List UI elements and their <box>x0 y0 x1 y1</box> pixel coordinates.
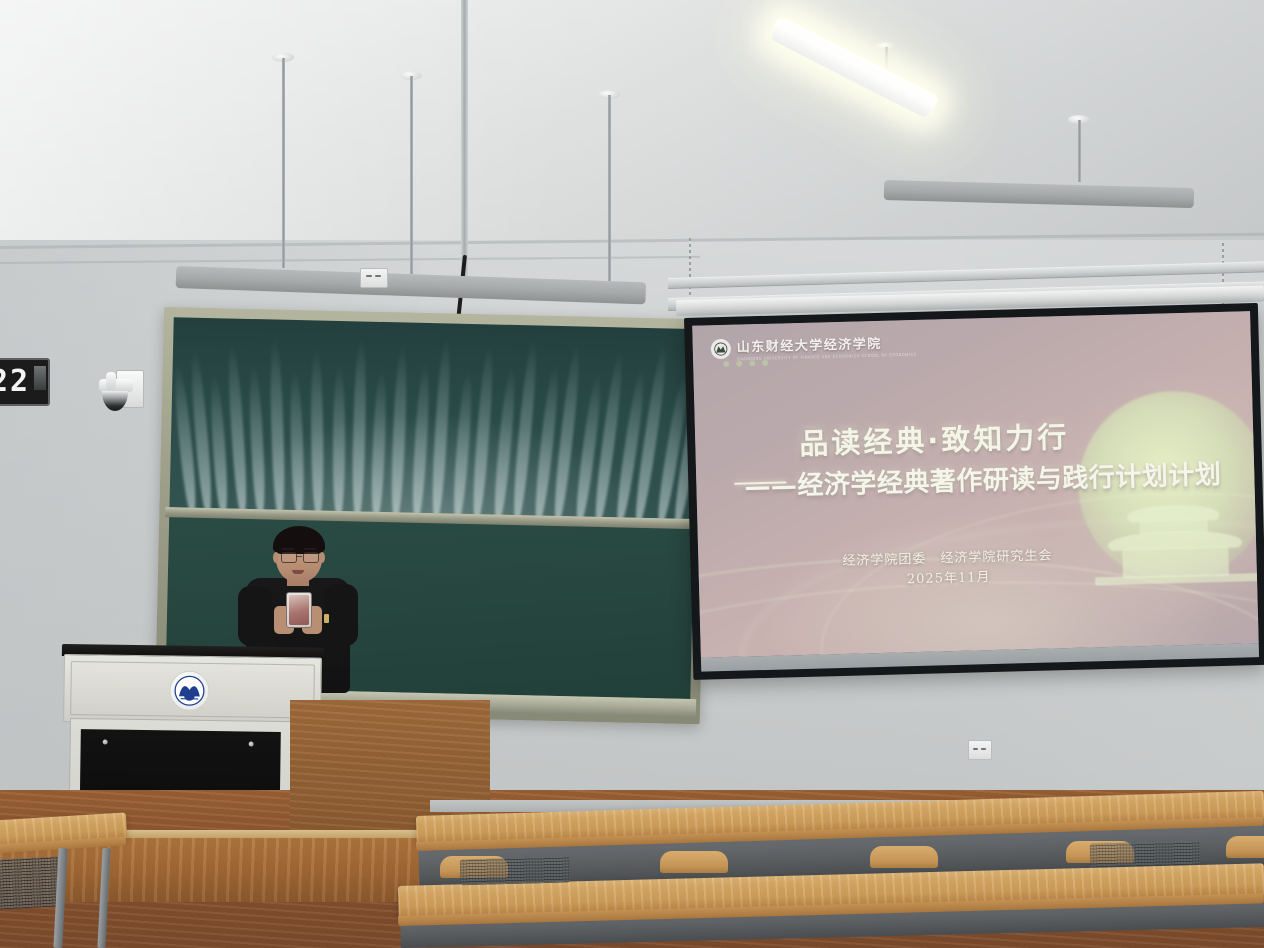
outlet-slot <box>375 275 381 277</box>
projector-mount-pole <box>461 0 468 282</box>
podium-front-panel <box>63 654 322 726</box>
outlet-slot <box>973 748 978 750</box>
eyeglasses-bridge <box>296 556 302 557</box>
digital-wall-display: 22 <box>0 358 50 406</box>
camera-arm-vertical <box>106 372 116 390</box>
eyeglasses-lens-right <box>303 552 319 563</box>
wall-clock-value: 22 <box>0 367 30 397</box>
smartphone-screen <box>289 595 309 625</box>
seat[interactable] <box>660 851 728 873</box>
presenter-ear-right <box>319 552 325 563</box>
projection-screen-frame: 山东财经大学经济学院 SHANDONG UNIVERSITY OF FINANC… <box>684 303 1264 680</box>
seat-mesh-back[interactable] <box>460 857 571 886</box>
slide-logo-dot <box>749 360 755 366</box>
university-crest-icon <box>711 339 732 360</box>
panel-screw-left <box>103 739 108 744</box>
slide-title: 品读经典·致知力行 <box>799 414 1070 463</box>
slide-logo-dot <box>723 361 729 367</box>
presenter-ear-left <box>273 552 279 563</box>
presenter-brow-right <box>304 548 316 550</box>
seat-mesh-back[interactable] <box>1090 841 1201 868</box>
light-drop-rod <box>282 58 285 268</box>
seat[interactable] <box>870 846 938 868</box>
light-drop-rod <box>1078 120 1081 182</box>
outlet-slot <box>981 748 986 750</box>
wall-outlet-left[interactable] <box>360 268 388 288</box>
eyeglasses-lens-left <box>281 552 297 563</box>
light-drop-rod <box>410 76 413 274</box>
projection-screen-surface: 山东财经大学经济学院 SHANDONG UNIVERSITY OF FINANC… <box>692 311 1258 657</box>
presenter-brow-left <box>282 548 294 550</box>
slide-logo: 山东财经大学经济学院 SHANDONG UNIVERSITY OF FINANC… <box>711 332 917 361</box>
presenter-lapel-badge <box>324 614 329 623</box>
wall-outlet-right[interactable] <box>968 740 992 760</box>
seat[interactable] <box>1226 836 1264 858</box>
light-drop-rod <box>608 95 611 281</box>
upper-sliding-panel <box>169 317 698 519</box>
shandong-ufe-emblem <box>169 670 210 711</box>
panel-screw-right <box>249 741 254 746</box>
slide-logo-dot <box>736 360 742 366</box>
wall-clock-side-panel <box>34 366 46 390</box>
smartphone <box>286 592 312 628</box>
slide-logo-dot <box>762 360 768 366</box>
outlet-slot <box>366 275 372 277</box>
slide-date: 2025年11月 <box>907 566 991 587</box>
slide-logo-dots <box>723 360 768 367</box>
classroom-scene: 22 <box>0 0 1264 948</box>
presenter-hair <box>273 526 325 554</box>
seat-mesh-back[interactable] <box>0 856 61 909</box>
